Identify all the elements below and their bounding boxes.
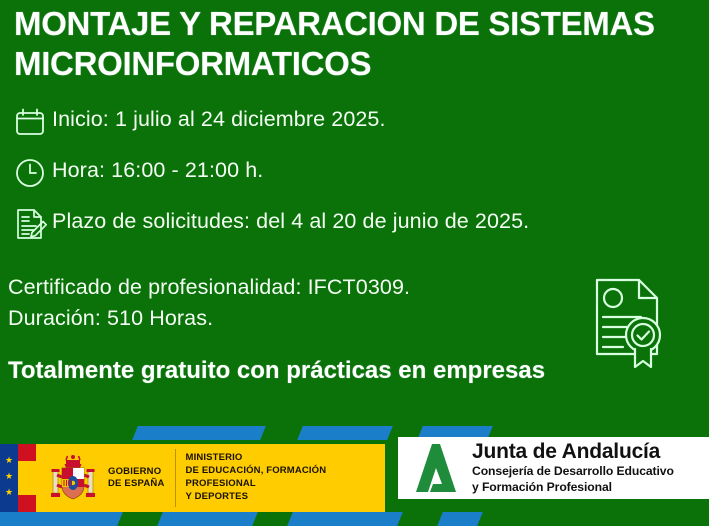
document-pencil-icon xyxy=(8,202,52,246)
stripe xyxy=(0,512,123,526)
spain-coat-of-arms-icon xyxy=(42,448,104,508)
stripe xyxy=(437,512,483,526)
list-item: Plazo de solicitudes: del 4 al 20 de jun… xyxy=(8,202,648,246)
clock-icon xyxy=(8,151,52,195)
junta-text-block: Junta de Andalucía Consejería de Desarro… xyxy=(466,441,709,495)
info-list: Inicio: 1 julio al 24 diciembre 2025. Ho… xyxy=(8,100,648,253)
junta-subtitle-line1: Consejería de Desarrollo Educativo xyxy=(472,464,709,479)
stripe xyxy=(297,426,393,440)
eu-star-icon: ★ xyxy=(5,456,13,465)
stripe xyxy=(287,512,403,526)
course-details: Certificado de profesionalidad: IFCT0309… xyxy=(8,272,568,334)
course-poster: MONTAJE Y REPARACION DE SISTEMAS MICROIN… xyxy=(0,0,709,526)
junta-subtitle-line2: y Formación Profesional xyxy=(472,480,709,495)
gobierno-panel: GOBIERNO DE ESPAÑA MINISTERIO DE EDUCACI… xyxy=(36,444,385,512)
gobierno-label: GOBIERNO DE ESPAÑA xyxy=(104,466,175,491)
eu-star-icon: ★ xyxy=(5,488,13,497)
list-item-label: Plazo de solicitudes: del 4 al 20 de jun… xyxy=(52,202,529,235)
duration-line: Duración: 510 Horas. xyxy=(8,303,568,334)
list-item: Hora: 16:00 - 21:00 h. xyxy=(8,151,648,195)
highlight-text: Totalmente gratuito con prácticas en emp… xyxy=(8,355,588,386)
ministerio-line3: Y DEPORTES xyxy=(186,491,385,504)
ministerio-label: MINISTERIO DE EDUCACIÓN, FORMACIÓN PROFE… xyxy=(176,452,385,503)
certificate-code-line: Certificado de profesionalidad: IFCT0309… xyxy=(8,272,568,303)
gobierno-label-line2: DE ESPAÑA xyxy=(108,478,165,490)
flag-band-red-bottom xyxy=(18,495,36,512)
stripe xyxy=(157,512,258,526)
page-title: MONTAJE Y REPARACION DE SISTEMAS MICROIN… xyxy=(14,4,694,85)
list-item: Inicio: 1 julio al 24 diciembre 2025. xyxy=(8,100,648,144)
flag-band-red-top xyxy=(18,444,36,461)
ministerio-line1: MINISTERIO xyxy=(186,452,385,465)
junta-title: Junta de Andalucía xyxy=(472,441,709,464)
gobierno-de-espana-logo: ★ ★ ★ xyxy=(0,444,385,512)
junta-de-andalucia-logo: Junta de Andalucía Consejería de Desarro… xyxy=(398,437,709,499)
eu-star-icon: ★ xyxy=(5,472,13,481)
flag-band-yellow xyxy=(18,461,36,495)
list-item-label: Hora: 16:00 - 21:00 h. xyxy=(52,151,263,184)
junta-andalucia-a-icon xyxy=(398,441,466,495)
spain-flag-icon xyxy=(18,444,36,512)
list-item-label: Inicio: 1 julio al 24 diciembre 2025. xyxy=(52,100,386,133)
ministerio-line2: DE EDUCACIÓN, FORMACIÓN PROFESIONAL xyxy=(186,465,385,491)
stripe xyxy=(132,426,266,440)
gobierno-label-line1: GOBIERNO xyxy=(108,466,165,478)
eu-flag-icon: ★ ★ ★ xyxy=(0,444,18,512)
certificate-seal-icon xyxy=(583,272,675,372)
calendar-icon xyxy=(8,100,52,144)
